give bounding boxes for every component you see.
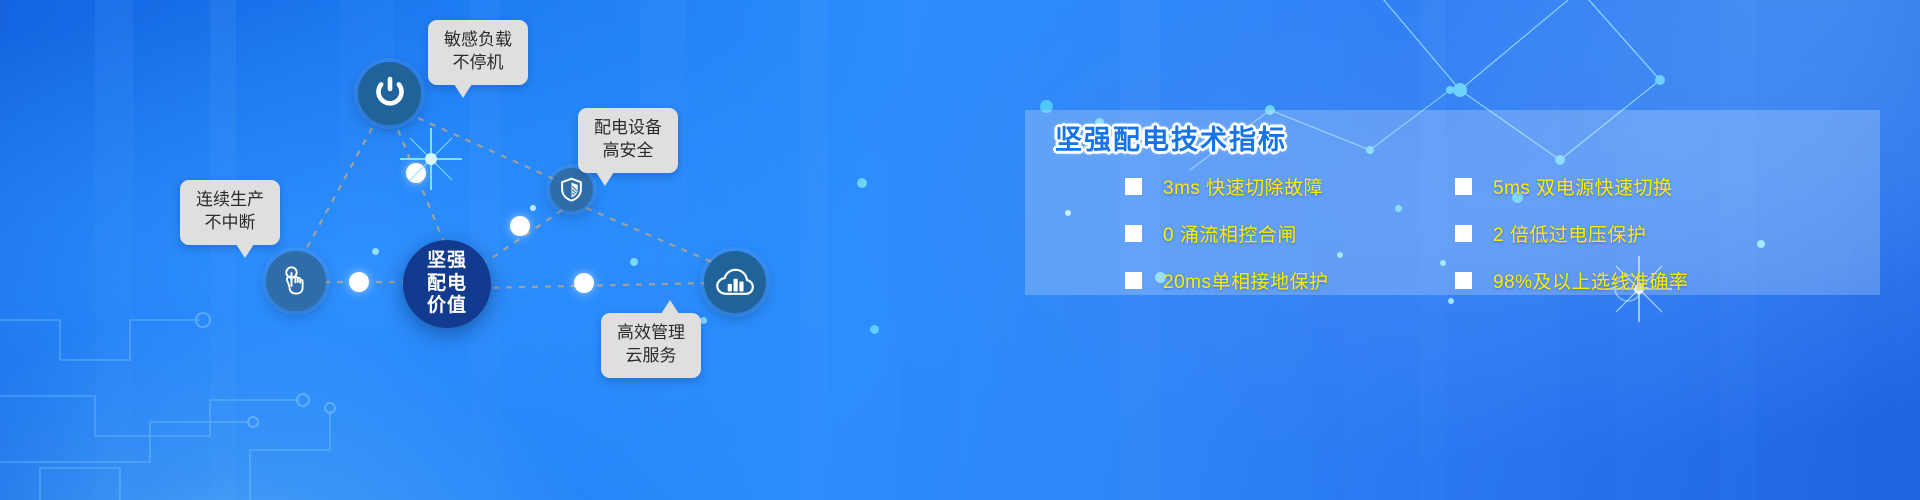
callout-line-2: 不中断 xyxy=(196,212,264,235)
connector-waypoint xyxy=(349,272,369,292)
callout-line-1: 连续生产 xyxy=(196,189,264,212)
callout-tail xyxy=(661,300,679,314)
callout-tail xyxy=(596,172,614,186)
spec-item: 20ms单相接地保护 xyxy=(1125,267,1455,294)
bullet-square-icon xyxy=(1125,272,1142,289)
spec-text: 5ms 双电源快速切换 xyxy=(1493,173,1673,200)
bullet-square-icon xyxy=(1125,225,1142,242)
bullet-square-icon xyxy=(1455,225,1472,242)
value-diagram: 坚强 配电 价值 敏感负载 不停机 配电设备 高安全 连续生产 不中断 高效管理… xyxy=(0,0,980,500)
bullet-square-icon xyxy=(1455,178,1472,195)
connector-waypoint xyxy=(574,273,594,293)
spec-item: 3ms 快速切除故障 xyxy=(1125,173,1455,200)
node-sensitive-load[interactable] xyxy=(358,62,421,125)
callout-line-2: 云服务 xyxy=(617,345,685,368)
spec-item: 5ms 双电源快速切换 xyxy=(1455,173,1885,200)
node-continuous-production[interactable] xyxy=(266,251,326,311)
hub-line-1: 坚强 xyxy=(427,250,467,272)
callout-line-2: 不停机 xyxy=(444,52,512,75)
connector-waypoint xyxy=(510,216,530,236)
spec-text: 0 涌流相控合闸 xyxy=(1163,220,1297,247)
bullet-square-icon xyxy=(1125,178,1142,195)
shield-icon xyxy=(559,177,584,202)
spec-text: 98%及以上选线准确率 xyxy=(1493,267,1689,294)
panel-title: 坚强配电技术指标 xyxy=(1055,118,1287,157)
callout-cloud-service[interactable]: 高效管理 云服务 xyxy=(601,313,701,378)
node-cloud-service[interactable] xyxy=(704,251,766,313)
callout-line-1: 高效管理 xyxy=(617,322,685,345)
callout-continuous-production[interactable]: 连续生产 不中断 xyxy=(180,180,280,245)
callout-line-1: 配电设备 xyxy=(594,117,662,140)
spec-item: 98%及以上选线准确率 xyxy=(1455,267,1885,294)
spec-text: 3ms 快速切除故障 xyxy=(1163,173,1323,200)
hub-line-2: 配电 xyxy=(427,273,467,295)
callout-line-2: 高安全 xyxy=(594,140,662,163)
power-icon xyxy=(372,76,408,112)
specs-list: 3ms 快速切除故障 5ms 双电源快速切换 0 涌流相控合闸 2 倍低过电压保… xyxy=(1125,173,1885,294)
spec-text: 2 倍低过电压保护 xyxy=(1493,220,1646,247)
spec-item: 2 倍低过电压保护 xyxy=(1455,220,1885,247)
callout-line-1: 敏感负载 xyxy=(444,29,512,52)
callout-tail xyxy=(236,244,254,258)
callout-sensitive-load[interactable]: 敏感负载 不停机 xyxy=(428,20,528,85)
hub-line-3: 价值 xyxy=(427,295,467,317)
node-equipment-safety[interactable] xyxy=(550,168,593,211)
callout-tail xyxy=(454,84,472,98)
spec-item: 0 涌流相控合闸 xyxy=(1125,220,1455,247)
cloud-chart-icon xyxy=(715,265,755,299)
bullet-square-icon xyxy=(1455,272,1472,289)
callout-equipment-safety[interactable]: 配电设备 高安全 xyxy=(578,108,678,173)
touch-hand-icon xyxy=(279,264,313,298)
central-hub[interactable]: 坚强 配电 价值 xyxy=(403,240,491,328)
spec-text: 20ms单相接地保护 xyxy=(1163,267,1328,294)
connector-waypoint xyxy=(406,163,426,183)
